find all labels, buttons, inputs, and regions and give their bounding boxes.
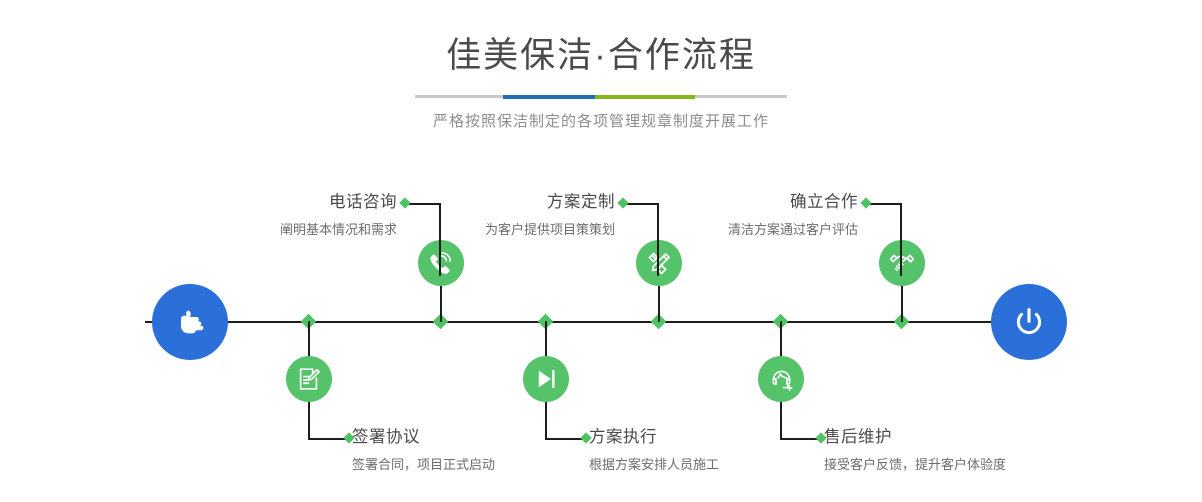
step-desc: 为客户提供项目策策划 bbox=[375, 223, 615, 236]
pointing-hand-icon bbox=[169, 301, 211, 343]
step-desc: 阐明基本情况和需求 bbox=[155, 223, 397, 236]
page-header: 佳美保洁·合作流程 严格按照保洁制定的各项管理规章制度开展工作 bbox=[0, 0, 1202, 131]
step-desc: 根据方案安排人员施工 bbox=[589, 458, 839, 471]
step-title: 方案定制 bbox=[375, 194, 615, 211]
power-icon bbox=[1008, 301, 1050, 343]
step-label-4: 方案执行 根据方案安排人员施工 bbox=[589, 429, 839, 471]
headset-support-icon bbox=[768, 366, 795, 393]
divider-segment-green bbox=[595, 95, 695, 99]
label-connector-5 bbox=[862, 203, 902, 276]
label-connector-2 bbox=[308, 402, 348, 440]
step-label-3: 方案定制 为客户提供项目策策划 bbox=[375, 194, 615, 236]
connector-vertical bbox=[545, 321, 547, 356]
page-subtitle: 严格按照保洁制定的各项管理规章制度开展工作 bbox=[0, 110, 1202, 131]
step-title: 方案执行 bbox=[589, 429, 839, 446]
timeline-end-node[interactable] bbox=[991, 284, 1067, 360]
page-title: 佳美保洁·合作流程 bbox=[0, 38, 1202, 73]
step-label-6: 售后维护 接受客户反馈，提升客户体验度 bbox=[824, 429, 1084, 471]
step-label-5: 确立合作 清洁方案通过客户评估 bbox=[618, 194, 858, 236]
step-desc: 清洁方案通过客户评估 bbox=[618, 223, 858, 236]
timeline-start-node[interactable] bbox=[152, 284, 228, 360]
step-desc: 接受客户反馈，提升客户体验度 bbox=[824, 458, 1084, 471]
step-title: 确立合作 bbox=[618, 194, 858, 211]
document-edit-icon bbox=[296, 366, 322, 392]
step-icon-bubble-2[interactable] bbox=[286, 356, 332, 402]
step-title: 电话咨询 bbox=[155, 194, 397, 211]
step-label-1: 电话咨询 阐明基本情况和需求 bbox=[155, 194, 397, 236]
title-divider bbox=[415, 95, 787, 98]
step-label-2: 签署协议 签署合同，项目正式启动 bbox=[352, 429, 602, 471]
step-icon-bubble-6[interactable] bbox=[758, 356, 804, 402]
connector-vertical bbox=[308, 321, 310, 356]
step-title: 售后维护 bbox=[824, 429, 1084, 446]
play-forward-icon bbox=[533, 366, 559, 392]
step-desc: 签署合同，项目正式启动 bbox=[352, 458, 602, 471]
flow-diagram-canvas: 佳美保洁·合作流程 严格按照保洁制定的各项管理规章制度开展工作 bbox=[0, 0, 1202, 502]
divider-segment-blue bbox=[503, 95, 595, 99]
step-icon-bubble-4[interactable] bbox=[523, 356, 569, 402]
step-title: 签署协议 bbox=[352, 429, 602, 446]
connector-vertical bbox=[780, 321, 782, 356]
timeline-axis bbox=[145, 321, 1057, 323]
